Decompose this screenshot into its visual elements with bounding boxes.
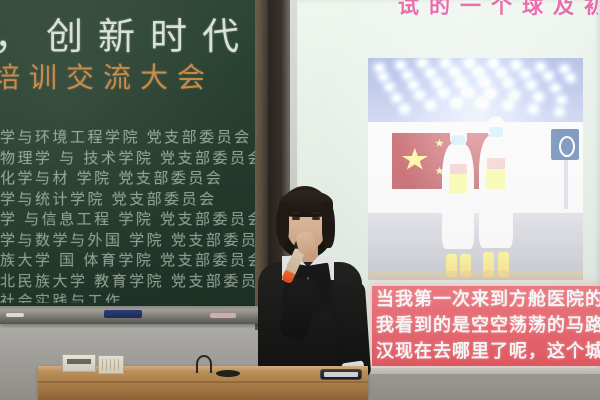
blackboard-body-text: 学与环境工程学院 党支部委员会 物理学 与 技术学院 党支部委员会 化学与材 学… [0, 128, 262, 303]
blackboard-subheadline: 培训交流大会 [0, 56, 260, 96]
eye-right [312, 217, 320, 220]
suit-badge [486, 169, 505, 189]
smartphone [320, 369, 362, 380]
subtitle-line-1: 当我第一次来到方舱医院的 [372, 286, 600, 312]
slide-subtitle-band: 当我第一次来到方舱医院的 我看到的是空空荡荡的马路 汉现在去哪里了呢，这个城 [372, 286, 600, 366]
sign-post [564, 160, 568, 209]
eye-left [292, 217, 300, 220]
suit-writing [450, 164, 467, 174]
flag-large-star [401, 148, 428, 171]
face-mask-icon [451, 135, 465, 145]
white-chalk [6, 313, 24, 317]
cable-loop [196, 355, 212, 373]
chalk-holder [98, 355, 124, 374]
hair-left [277, 202, 289, 246]
chalk-line: 物理学 与 技术学院 党支部委员会 [0, 149, 262, 170]
ceiling-lights [368, 58, 583, 125]
chalk-line: 化学与材 学院 党支部委员会 [0, 169, 262, 190]
blackboard-eraser [104, 310, 142, 318]
hazmat-worker [478, 116, 515, 271]
blackboard-headline: ，创新时代 [0, 6, 262, 60]
wall-sign-icon [551, 129, 579, 160]
red-handwritten-annotation: 试的一个球及初 [398, 0, 598, 16]
chalk-box [62, 354, 96, 372]
hazmat-suit [442, 144, 474, 249]
suit-badge [449, 174, 467, 193]
annotation-text: 试的一个球及初 [398, 0, 598, 16]
chalk-line: 学与统计学院 党支部委员会 [0, 190, 262, 211]
projected-photo [368, 58, 583, 280]
chalk-line: 学与环境工程学院 党支部委员会 [0, 128, 262, 149]
subtitle-line-3: 汉现在去哪里了呢，这个城 [372, 338, 600, 364]
chalk-line: 族大学 国 体育学院 党支部委员会 [0, 251, 262, 272]
subtitle-line-2: 我看到的是空空荡荡的马路 [372, 312, 600, 338]
blackboard: ，创新时代 培训交流大会 学与环境工程学院 党支部委员会 物理学 与 技术学院 … [0, 0, 262, 318]
hazmat-suit [479, 136, 513, 248]
podium-seam [38, 381, 368, 383]
presenter [238, 186, 370, 382]
eyebrow-left [291, 212, 301, 214]
photo-lower-strip [368, 271, 583, 280]
face-mask-icon [489, 127, 504, 138]
chalk-line: 社会实践与工作 [0, 292, 262, 303]
pink-chalk [210, 313, 236, 318]
cable-clip [216, 370, 240, 377]
screenshot-root: 试的一个球及初 [0, 0, 600, 400]
eyebrow-right [311, 212, 321, 214]
hair-right [322, 202, 335, 248]
suit-writing [487, 158, 505, 169]
hazmat-worker [441, 125, 475, 272]
chalk-line: 北民族大学 教育学院 党支部委员会 [0, 272, 262, 293]
photo-floor [368, 213, 583, 280]
chalk-line: 学 与信息工程 学院 党支部委员会 [0, 210, 262, 231]
chalk-line: 学与数学与外国 学院 党支部委员会 [0, 231, 262, 252]
